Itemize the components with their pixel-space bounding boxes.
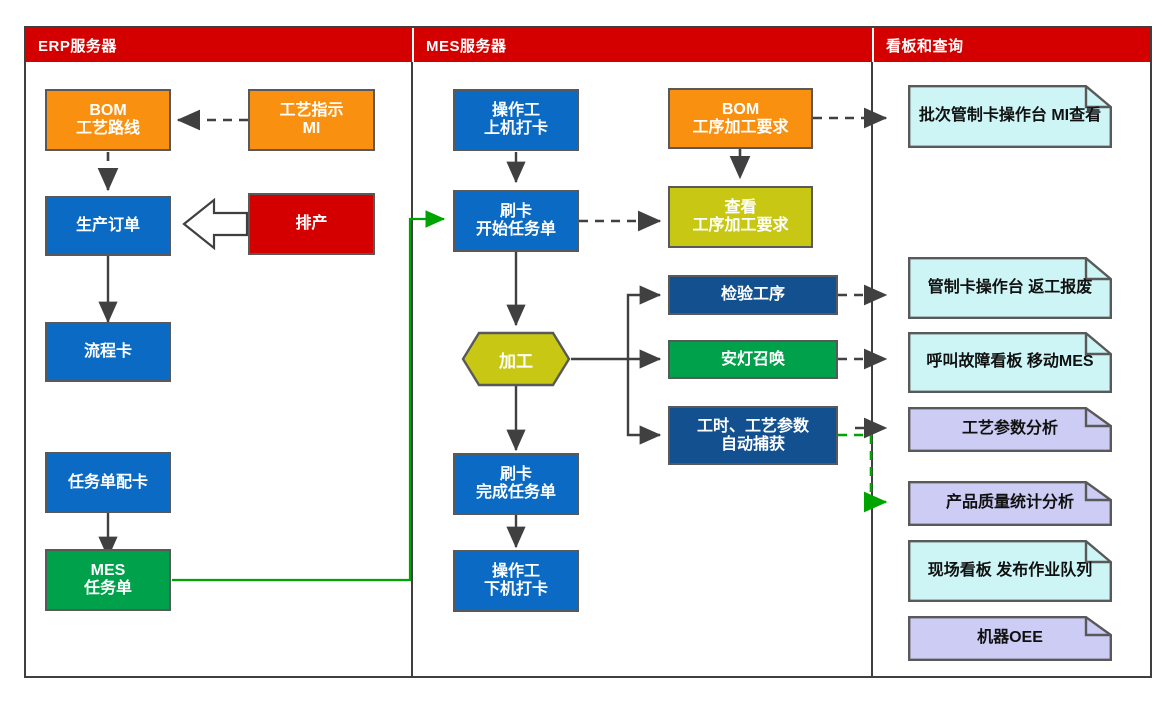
- node-fault-call-board-line2: 移动MES: [1027, 353, 1094, 370]
- node-machining[interactable]: 加工: [461, 331, 571, 387]
- node-mes-task-order-line2: 任务单: [84, 580, 132, 598]
- flowchart-canvas: ERP服务器 MES服务器 看板和查询: [0, 0, 1176, 701]
- node-inspection-process-label: 检验工序: [721, 286, 785, 304]
- node-bom-route-line1: BOM: [76, 102, 140, 120]
- node-task-card-setup-label: 任务单配卡: [68, 474, 148, 492]
- node-andon-call[interactable]: 安灯召唤: [668, 340, 838, 379]
- node-operator-clock-out-line1: 操作工: [484, 563, 548, 581]
- node-swipe-start-task[interactable]: 刷卡 开始任务单: [453, 190, 579, 252]
- column-header-erp: ERP服务器: [26, 28, 412, 62]
- node-batch-control-console[interactable]: 批次管制卡操作台 MI查看: [908, 85, 1112, 148]
- node-operator-clock-in-line2: 上机打卡: [484, 120, 548, 138]
- column-header-erp-label: ERP服务器: [26, 35, 117, 56]
- node-swipe-start-task-line2: 开始任务单: [476, 221, 556, 239]
- node-auto-capture-line2: 自动捕获: [697, 436, 809, 454]
- node-task-card-setup[interactable]: 任务单配卡: [45, 452, 171, 513]
- node-production-order[interactable]: 生产订单: [45, 196, 171, 256]
- node-rework-scrap-console[interactable]: 管制卡操作台 返工报废: [908, 257, 1112, 319]
- node-bom-process-req-line2: 工序加工要求: [692, 119, 788, 137]
- column-header-mes: MES服务器: [414, 28, 872, 62]
- node-andon-call-label: 安灯召唤: [721, 351, 785, 369]
- column-header-board-label: 看板和查询: [874, 35, 964, 56]
- node-flow-card[interactable]: 流程卡: [45, 322, 171, 382]
- node-production-order-label: 生产订单: [76, 217, 140, 235]
- node-fault-call-board-line1: 呼叫故障看板: [926, 353, 1022, 370]
- column-divider-1: [411, 62, 413, 676]
- node-scheduling-label: 排产: [295, 215, 327, 233]
- node-swipe-finish-task-line2: 完成任务单: [476, 484, 556, 502]
- node-mes-task-order-line1: MES: [84, 562, 132, 580]
- node-batch-control-console-line2: MI查看: [1051, 107, 1101, 124]
- node-operator-clock-out[interactable]: 操作工 下机打卡: [453, 550, 579, 612]
- node-batch-control-console-line1: 批次管制卡操作台: [919, 107, 1047, 124]
- node-swipe-start-task-line1: 刷卡: [476, 203, 556, 221]
- node-view-process-req-line1: 查看: [692, 199, 788, 217]
- node-swipe-finish-task-line1: 刷卡: [476, 466, 556, 484]
- node-process-param-analysis[interactable]: 工艺参数分析: [908, 407, 1112, 452]
- node-rework-scrap-console-line1: 管制卡操作台: [928, 279, 1024, 296]
- node-operator-clock-out-line2: 下机打卡: [484, 581, 548, 599]
- node-quality-statistics-label: 产品质量统计分析: [946, 494, 1074, 511]
- node-view-process-req-line2: 工序加工要求: [692, 217, 788, 235]
- node-mi-line2: MI: [279, 120, 343, 138]
- node-inspection-process[interactable]: 检验工序: [668, 275, 838, 315]
- node-process-param-analysis-label: 工艺参数分析: [962, 420, 1058, 437]
- column-divider-2: [871, 62, 873, 676]
- node-machining-label: 加工: [499, 347, 533, 372]
- node-mes-task-order[interactable]: MES 任务单: [45, 549, 171, 611]
- node-bom-route-line2: 工艺路线: [76, 120, 140, 138]
- node-auto-capture[interactable]: 工时、工艺参数 自动捕获: [668, 406, 838, 465]
- node-bom-process-req-line1: BOM: [692, 101, 788, 119]
- node-fault-call-board[interactable]: 呼叫故障看板 移动MES: [908, 332, 1112, 393]
- node-bom-process-req[interactable]: BOM 工序加工要求: [668, 88, 813, 149]
- node-rework-scrap-console-line2: 返工报废: [1028, 279, 1092, 296]
- column-header-mes-label: MES服务器: [414, 35, 507, 56]
- node-site-board-queue[interactable]: 现场看板 发布作业队列: [908, 540, 1112, 602]
- node-mi-line1: 工艺指示: [279, 102, 343, 120]
- column-header-board: 看板和查询: [874, 28, 1150, 62]
- node-operator-clock-in-line1: 操作工: [484, 102, 548, 120]
- node-flow-card-label: 流程卡: [84, 343, 132, 361]
- node-auto-capture-line1: 工时、工艺参数: [697, 418, 809, 436]
- node-scheduling[interactable]: 排产: [248, 193, 375, 255]
- node-bom-route[interactable]: BOM 工艺路线: [45, 89, 171, 151]
- node-machine-oee[interactable]: 机器OEE: [908, 616, 1112, 661]
- node-machine-oee-label: 机器OEE: [977, 629, 1043, 646]
- node-site-board-queue-line1: 现场看板: [928, 562, 992, 579]
- node-site-board-queue-line2: 发布作业队列: [996, 562, 1092, 579]
- node-swipe-finish-task[interactable]: 刷卡 完成任务单: [453, 453, 579, 515]
- node-view-process-req[interactable]: 查看 工序加工要求: [668, 186, 813, 248]
- node-mi[interactable]: 工艺指示 MI: [248, 89, 375, 151]
- node-operator-clock-in[interactable]: 操作工 上机打卡: [453, 89, 579, 151]
- node-quality-statistics[interactable]: 产品质量统计分析: [908, 481, 1112, 526]
